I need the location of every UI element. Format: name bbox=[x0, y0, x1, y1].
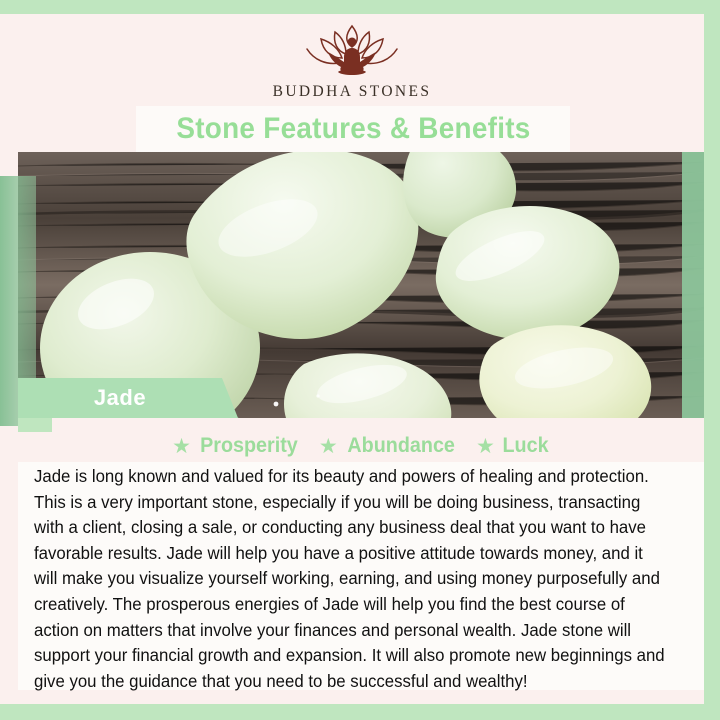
description-text: Jade is long known and valued for its be… bbox=[34, 464, 669, 694]
accent-tab-below-label bbox=[18, 418, 52, 432]
star-icon: ★ bbox=[319, 436, 338, 457]
frame-top-border bbox=[0, 0, 720, 14]
benefit-item-prosperity: ★ Prosperity bbox=[172, 434, 301, 458]
benefit-item-luck: ★ Luck bbox=[476, 434, 550, 458]
benefit-label: Abundance bbox=[347, 434, 454, 458]
frame-right-border bbox=[704, 0, 720, 720]
stone-name: Jade bbox=[18, 378, 222, 418]
benefits-row: ★ Prosperity ★ Abundance ★ Luck bbox=[18, 430, 704, 462]
benefit-item-abundance: ★ Abundance bbox=[319, 434, 458, 458]
lotus-meditation-icon bbox=[299, 18, 405, 80]
star-icon: ★ bbox=[476, 436, 495, 457]
accent-bar-right bbox=[682, 152, 704, 418]
benefit-label: Prosperity bbox=[200, 434, 298, 458]
title-banner: Stone Features & Benefits bbox=[136, 106, 570, 152]
brand-logo: BUDDHA STONES bbox=[0, 18, 704, 101]
brand-name: BUDDHA STONES bbox=[0, 83, 704, 101]
frame-bottom-border bbox=[0, 704, 720, 720]
star-icon: ★ bbox=[172, 436, 191, 457]
page-title: Stone Features & Benefits bbox=[176, 112, 530, 146]
product-info-card: BUDDHA STONES Stone Features & Benefits bbox=[0, 0, 720, 720]
stone-label-band-angle bbox=[222, 378, 238, 418]
benefit-label: Luck bbox=[502, 434, 548, 458]
